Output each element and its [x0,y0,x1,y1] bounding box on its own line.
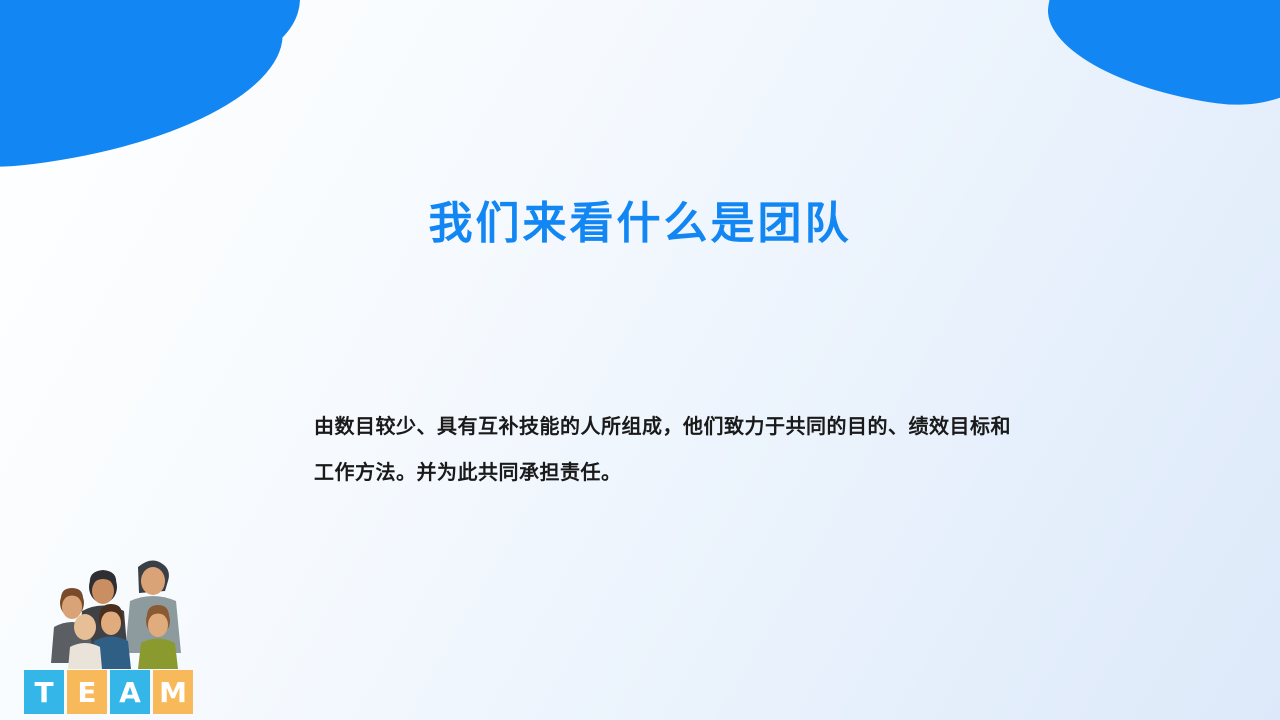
body-line-2: 工作方法。并为此共同承担责任。 [314,450,1144,496]
team-word-tiles: T E A M [24,670,193,714]
body-paragraph: 由数目较少、具有互补技能的人所组成，他们致力于共同的目的、绩效目标和 工作方法。… [314,404,1144,496]
page-title: 我们来看什么是团队 [0,198,1280,251]
slide-canvas: 我们来看什么是团队 由数目较少、具有互补技能的人所组成，他们致力于共同的目的、绩… [0,0,1280,720]
team-tile-t: T [24,670,64,714]
decorative-blob-top-right [1038,0,1280,120]
team-tile-a: A [110,670,150,714]
team-illustration: T E A M [10,535,210,720]
team-tile-m: M [153,670,193,714]
body-line-1: 由数目较少、具有互补技能的人所组成，他们致力于共同的目的、绩效目标和 [314,404,1144,450]
team-tile-e: E [67,670,107,714]
